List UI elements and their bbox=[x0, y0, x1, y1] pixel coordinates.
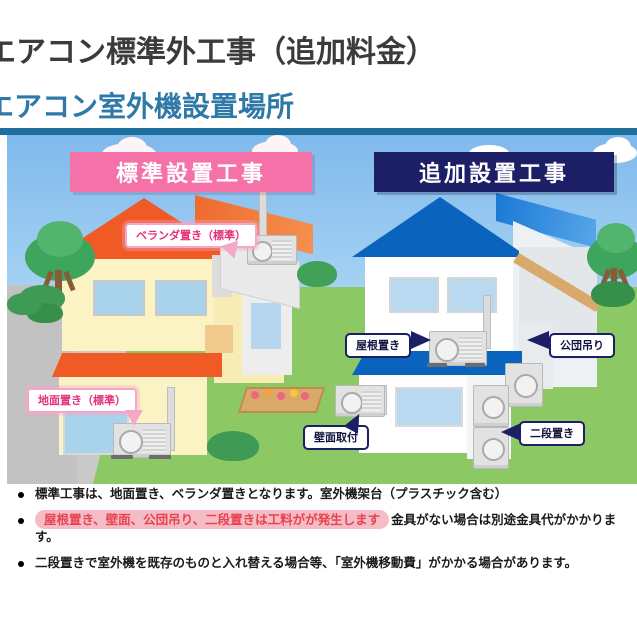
ac-unit-foot bbox=[149, 455, 171, 459]
ac-unit-foot bbox=[465, 363, 485, 367]
flower-icon bbox=[301, 392, 309, 400]
refrigerant-pipe bbox=[259, 190, 267, 240]
label-kodan-hanging: 公団吊り bbox=[549, 333, 615, 358]
ac-unit-foot bbox=[427, 363, 447, 367]
bullet-icon bbox=[18, 518, 24, 524]
ac-outdoor-unit-roof bbox=[429, 331, 487, 366]
bush-decoration bbox=[7, 293, 41, 315]
note-item: 屋根置き、壁面、公団吊り、二段置きは工料がが発生します金具がない場合は別途金具代… bbox=[12, 512, 632, 546]
label-ground-placement: 地面置き（標準） bbox=[27, 388, 137, 413]
bullet-icon bbox=[18, 492, 24, 498]
page-title: エアコン標準外工事（追加料金） bbox=[0, 36, 637, 69]
banner-additional-install: 追加設置工事 bbox=[374, 152, 614, 192]
notes-list: 標準工事は、地面置き、ベランダ置きとなります。室外機架台（プラスチック含む） 屋… bbox=[12, 486, 632, 581]
page-root: エアコン標準外工事（追加料金） エアコン室外機設置場所 bbox=[0, 0, 637, 637]
bush-decoration bbox=[207, 431, 259, 461]
label-roof-pointer bbox=[411, 331, 431, 349]
bush-decoration bbox=[297, 261, 337, 287]
flower-icon bbox=[290, 389, 298, 397]
ac-outdoor-unit-two-tier-upper bbox=[473, 385, 509, 427]
banner-standard-install: 標準設置工事 bbox=[70, 152, 312, 192]
left-house-window bbox=[155, 280, 207, 316]
label-two-tier-placement: 二段置き bbox=[519, 421, 585, 446]
label-roof-placement: 屋根置き bbox=[345, 333, 411, 358]
installation-diagram: 標準設置工事 追加設置工事 ベランダ置き（標準） 地面置き（標準） 屋根置き 公… bbox=[7, 135, 637, 484]
right-house-roof bbox=[352, 197, 528, 257]
bullet-icon bbox=[18, 561, 24, 567]
flower-icon bbox=[277, 392, 285, 400]
left-house-garage-window bbox=[251, 303, 281, 349]
ac-outdoor-unit-ground bbox=[113, 423, 171, 458]
left-house-window bbox=[93, 280, 145, 316]
note-item: 標準工事は、地面置き、ベランダ置きとなります。室外機架台（プラスチック含む） bbox=[12, 486, 632, 503]
note-highlight: 屋根置き、壁面、公団吊り、二段置きは工料がが発生します bbox=[35, 510, 389, 529]
label-kodan-pointer bbox=[527, 331, 549, 349]
note-text: 標準工事は、地面置き、ベランダ置きとなります。室外機架台（プラスチック含む） bbox=[35, 486, 507, 503]
flower-bed bbox=[238, 387, 325, 413]
note-text: 二段置きで室外機を既存のものと入れ替える場合等、「室外機移動費」がかかる場合があ… bbox=[35, 555, 577, 572]
subtitle-underline bbox=[0, 128, 637, 135]
flower-icon bbox=[251, 391, 259, 399]
left-house-door bbox=[205, 325, 233, 353]
flower-icon bbox=[264, 389, 272, 397]
ac-unit-foot bbox=[111, 455, 133, 459]
left-house-lower-roof bbox=[52, 353, 222, 377]
right-house-window bbox=[389, 277, 439, 313]
bush-decoration bbox=[591, 281, 635, 307]
note-item: 二段置きで室外機を既存のものと入れ替える場合等、「室外機移動費」がかかる場合があ… bbox=[12, 555, 632, 572]
label-two-tier-pointer bbox=[501, 423, 521, 441]
ac-outdoor-unit-kodan bbox=[505, 363, 543, 407]
right-house-lower-window bbox=[395, 387, 463, 427]
note-text-highlighted: 屋根置き、壁面、公団吊り、二段置きは工料がが発生します金具がない場合は別途金具代… bbox=[35, 512, 632, 546]
ac-outdoor-unit-wall bbox=[335, 385, 385, 417]
page-subtitle: エアコン室外機設置場所 bbox=[0, 92, 637, 123]
label-ground-pointer bbox=[125, 410, 143, 426]
